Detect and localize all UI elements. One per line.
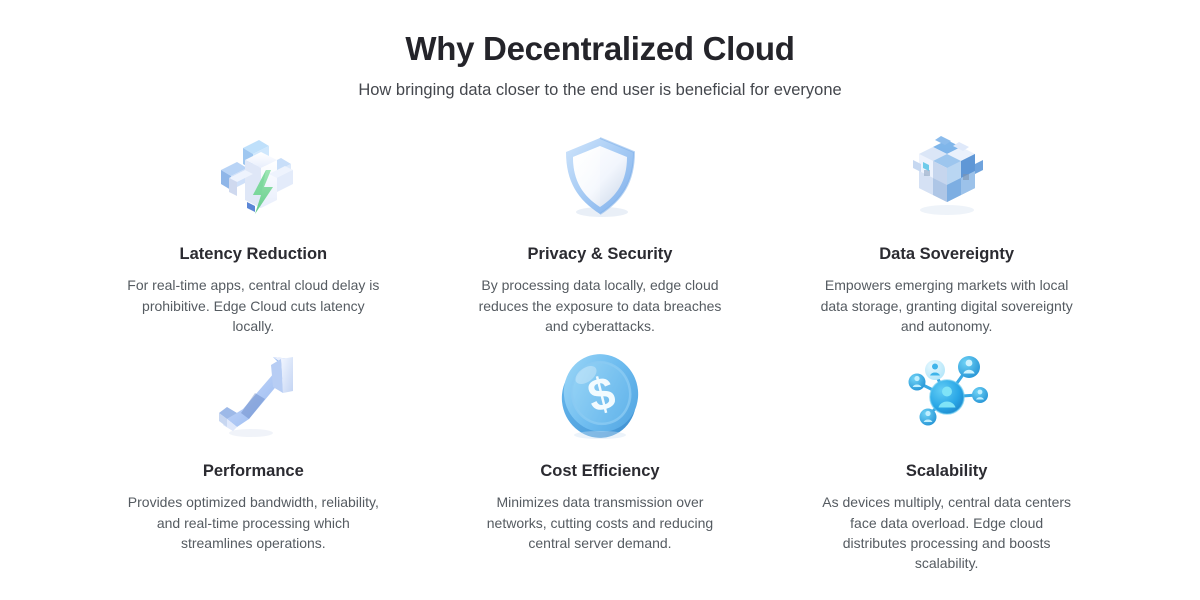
feature-cards-grid: Latency Reduction For real-time apps, ce…	[80, 126, 1120, 568]
feature-card-performance[interactable]: Performance Provides optimized bandwidth…	[80, 347, 427, 568]
shield-icon	[550, 126, 650, 226]
feature-section: Why Decentralized Cloud How bringing dat…	[0, 0, 1200, 600]
feature-card-title: Latency Reduction	[180, 244, 328, 265]
feature-card-description: Empowers emerging markets with local dat…	[819, 275, 1075, 336]
feature-card-title: Performance	[203, 461, 304, 482]
feature-card-latency-reduction[interactable]: Latency Reduction For real-time apps, ce…	[80, 126, 427, 347]
feature-card-title: Scalability	[906, 461, 988, 482]
feature-card-description: As devices multiply, central data center…	[819, 492, 1075, 573]
puzzle-cube-icon	[897, 126, 997, 226]
feature-card-description: Minimizes data transmission over network…	[472, 492, 728, 553]
feature-card-privacy-security[interactable]: Privacy & Security By processing data lo…	[427, 126, 774, 347]
growth-arrow-icon	[203, 347, 303, 439]
feature-card-scalability[interactable]: Scalability As devices multiply, central…	[773, 347, 1120, 568]
feature-card-description: Provides optimized bandwidth, reliabilit…	[125, 492, 381, 553]
feature-card-title: Cost Efficiency	[540, 461, 659, 482]
feature-card-description: For real-time apps, central cloud delay …	[125, 275, 381, 336]
feature-card-description: By processing data locally, edge cloud r…	[472, 275, 728, 336]
section-header: Why Decentralized Cloud How bringing dat…	[0, 28, 1200, 102]
feature-card-data-sovereignty[interactable]: Data Sovereignty Empowers emerging marke…	[773, 126, 1120, 347]
lightning-cross-icon	[203, 126, 303, 226]
page-title: Why Decentralized Cloud	[0, 28, 1200, 69]
dollar-coin-icon: $	[550, 347, 650, 439]
page-subtitle: How bringing data closer to the end user…	[0, 80, 1200, 101]
feature-card-title: Privacy & Security	[528, 244, 673, 265]
feature-card-cost-efficiency[interactable]: $ Cost Efficiency Minimizes data transmi…	[427, 347, 774, 568]
feature-card-title: Data Sovereignty	[879, 244, 1014, 265]
network-nodes-icon	[897, 347, 997, 439]
